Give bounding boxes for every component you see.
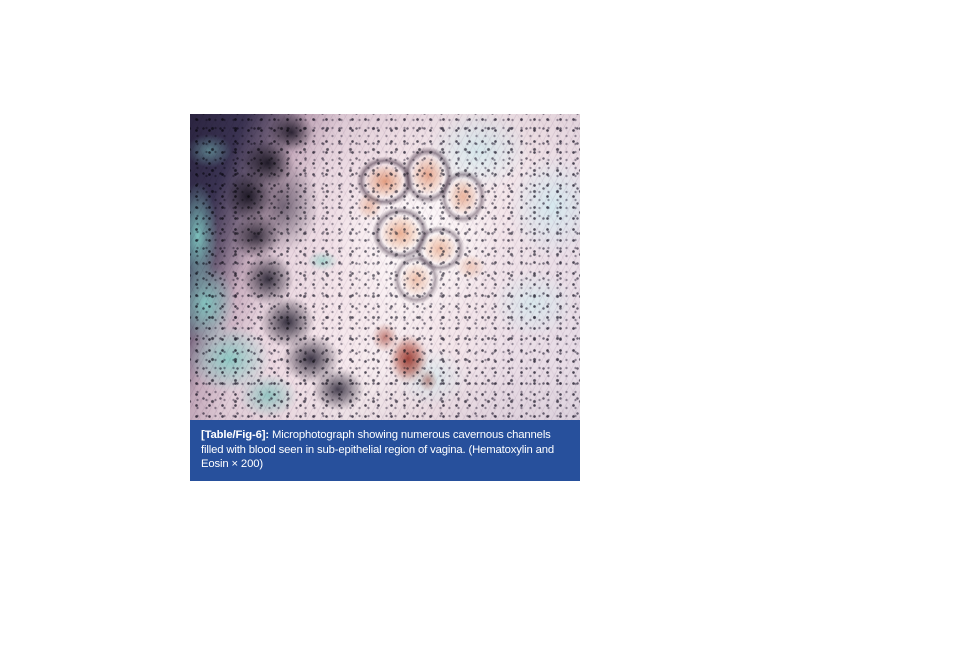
page-canvas: [Table/Fig-6]: Microphotograph showing n… xyxy=(0,0,962,653)
vignette-layer xyxy=(190,114,580,420)
figure-block: [Table/Fig-6]: Microphotograph showing n… xyxy=(190,114,580,481)
figure-caption-label: [Table/Fig-6]: xyxy=(201,429,269,441)
histology-micrograph-image xyxy=(190,114,580,420)
figure-caption: [Table/Fig-6]: Microphotograph showing n… xyxy=(190,420,580,481)
